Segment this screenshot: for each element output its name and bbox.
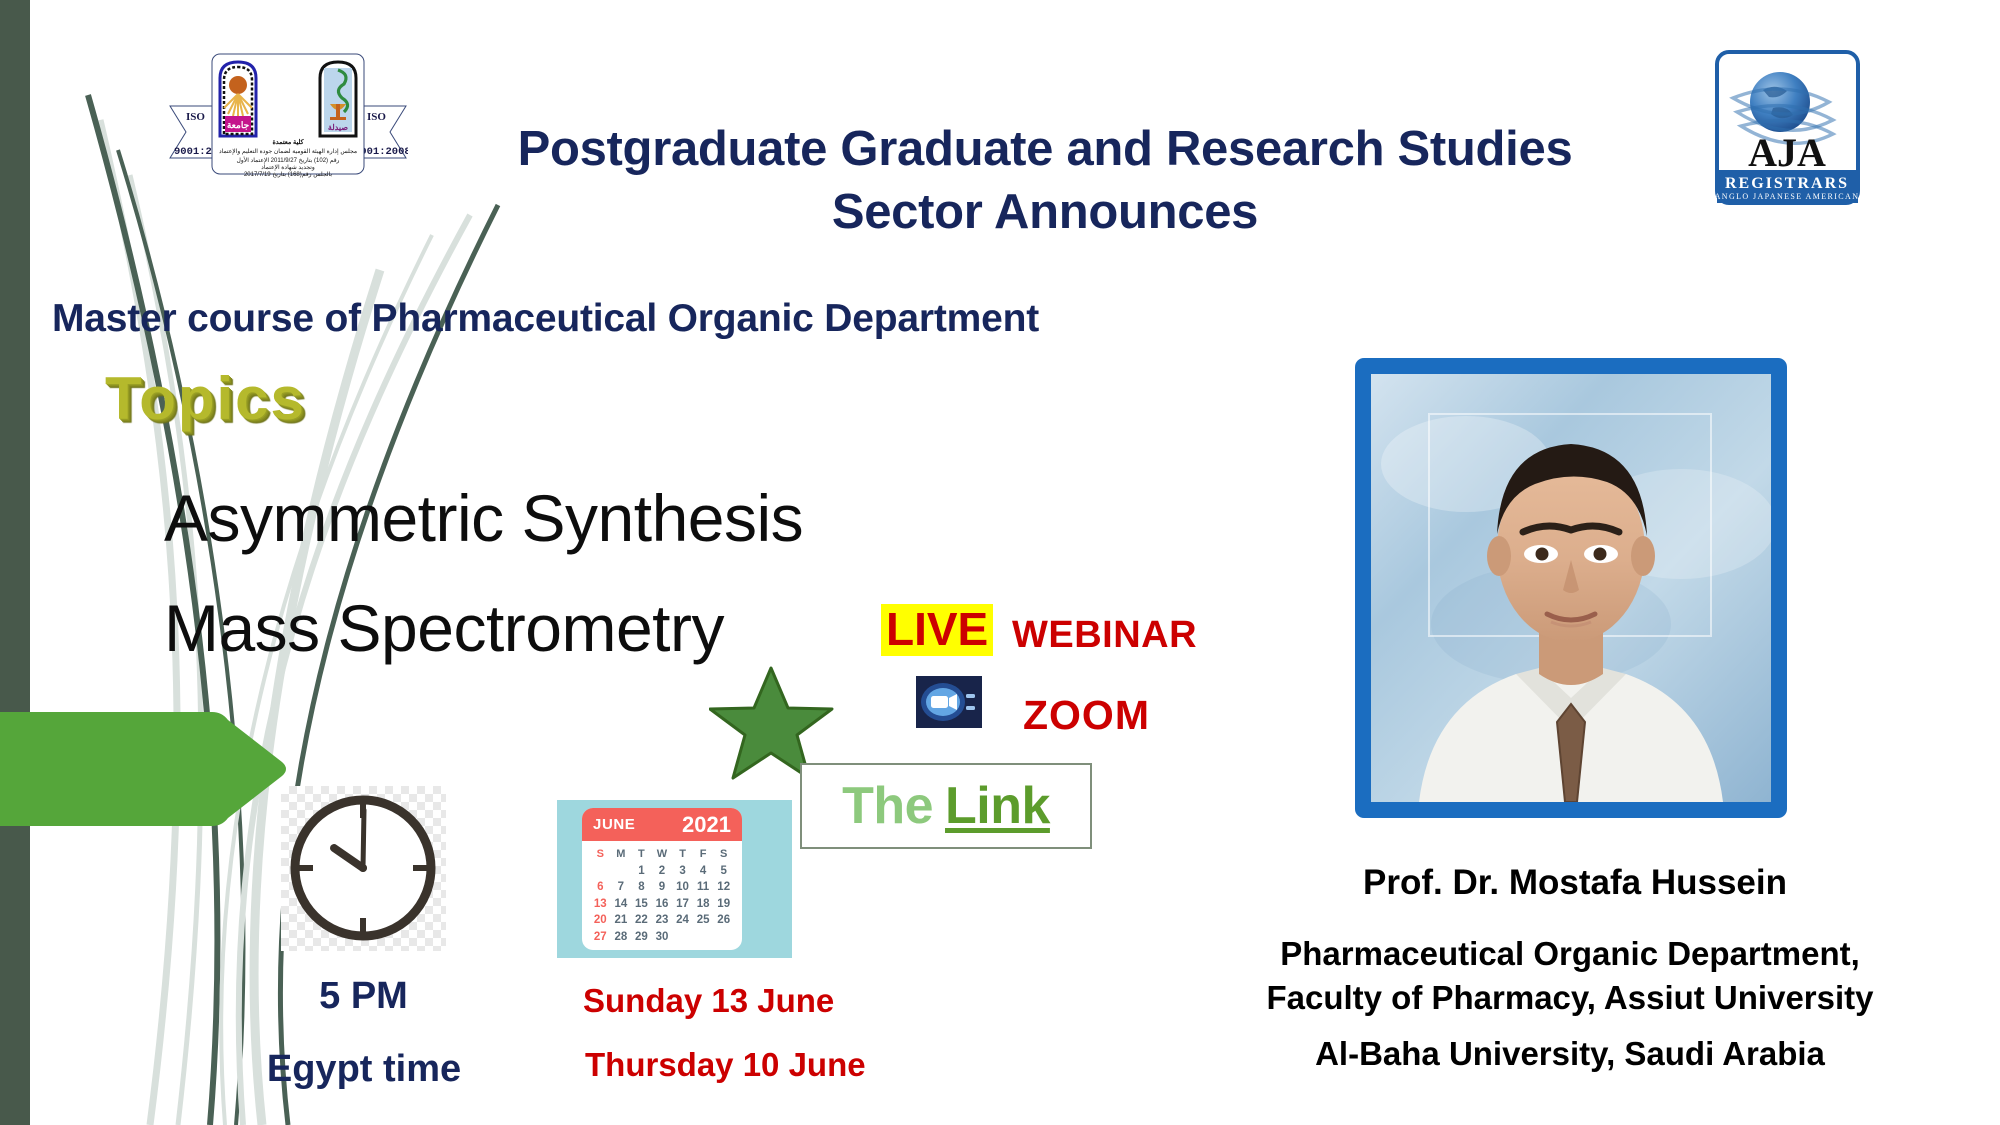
calendar-header: JUNE 2021: [582, 808, 742, 841]
webinar-link-box[interactable]: The Link: [800, 763, 1092, 849]
calendar-day: 11: [693, 879, 714, 896]
speaker-portrait-image: [1371, 374, 1771, 802]
page-title-line-2: Sector Announces: [430, 181, 1660, 244]
webinar-announcement-slide: ISO ISO 9001:2015 9001:2008 جامعة صيدلة …: [0, 0, 2000, 1125]
accreditation-caption-4: وتجديد شهادة الإعتماد: [261, 164, 315, 171]
aja-registrars-label: REGISTRARS: [1725, 175, 1849, 192]
calendar-day: 15: [631, 896, 652, 913]
aja-registrars-logo: AJA REGISTRARS ANGLO JAPANESE AMERICAN: [1715, 50, 1860, 205]
calendar-day: 23: [652, 912, 673, 929]
speaker-affiliation-line-3: Al-Baha University, Saudi Arabia: [1175, 1035, 1965, 1073]
calendar-weekday: S: [713, 846, 734, 863]
calendar-day: 9: [652, 879, 673, 896]
webinar-link[interactable]: Link: [945, 776, 1050, 836]
topic-item-1: Asymmetric Synthesis: [164, 480, 803, 556]
page-title: Postgraduate Graduate and Research Studi…: [430, 118, 1660, 243]
calendar-weekday: W: [652, 846, 673, 863]
topic-item-2: Mass Spectrometry: [164, 590, 724, 666]
calendar-day: 17: [672, 896, 693, 913]
analog-clock-icon: [281, 786, 446, 951]
calendar-day: 13: [590, 896, 611, 913]
zoom-platform-label: ZOOM: [1023, 692, 1150, 739]
calendar-day: 16: [652, 896, 673, 913]
speaker-name: Prof. Dr. Mostafa Hussein: [1225, 863, 1925, 903]
accreditation-caption-5: بالجلس رقم(168) بتاريخ 2017/7/19: [244, 171, 332, 178]
aja-tagline: ANGLO JAPANESE AMERICAN: [1715, 192, 1859, 201]
webinar-label: WEBINAR: [1012, 614, 1197, 657]
calendar-day: [713, 929, 734, 946]
speaker-affiliation: Pharmaceutical Organic Department, Facul…: [1175, 932, 1965, 1019]
calendar-day: 3: [672, 863, 693, 880]
calendar-day-grid: SMTWTFS123456789101112131415161718192021…: [582, 841, 742, 945]
calendar-card: JUNE 2021 SMTWTFS12345678910111213141516…: [582, 808, 742, 950]
svg-text:جامعة: جامعة: [227, 120, 250, 130]
iso-label-right: ISO: [367, 111, 386, 123]
calendar-day: 20: [590, 912, 611, 929]
event-timezone: Egypt time: [245, 1048, 483, 1091]
green-arrow-banner: [0, 704, 290, 834]
left-accent-band: [0, 0, 30, 1125]
link-prefix-label: The: [842, 776, 933, 836]
calendar-day: 1: [631, 863, 652, 880]
aja-wordmark: AJA: [1748, 130, 1826, 175]
clock-face: [281, 786, 446, 951]
calendar-day: 26: [713, 912, 734, 929]
live-badge: LIVE: [881, 604, 993, 656]
calendar-weekday: S: [590, 846, 611, 863]
calendar-day: 7: [611, 879, 632, 896]
course-subtitle: Master course of Pharmaceutical Organic …: [52, 297, 1039, 341]
calendar-day: 28: [611, 929, 632, 946]
svg-text:صيدلة: صيدلة: [328, 123, 348, 132]
calendar-day: 22: [631, 912, 652, 929]
calendar-day: 4: [693, 863, 714, 880]
calendar-day: [672, 929, 693, 946]
calendar-day: 8: [631, 879, 652, 896]
page-title-line-1: Postgraduate Graduate and Research Studi…: [518, 122, 1573, 176]
calendar-day: 12: [713, 879, 734, 896]
calendar-day: 24: [672, 912, 693, 929]
calendar-day: [693, 929, 714, 946]
calendar-year: 2021: [682, 812, 731, 838]
accreditation-caption-2: مجلس إدارة الهيئة القومية لضمان جودة الت…: [219, 148, 357, 155]
event-time: 5 PM: [281, 975, 446, 1018]
event-date-primary: Sunday 13 June: [583, 982, 834, 1020]
calendar-day: 30: [652, 929, 673, 946]
calendar-weekday: T: [631, 846, 652, 863]
calendar-day: [611, 863, 632, 880]
speaker-photo-frame: [1355, 358, 1787, 818]
speaker-portrait: [1371, 374, 1771, 802]
calendar-day: 19: [713, 896, 734, 913]
calendar-day: 21: [611, 912, 632, 929]
calendar-day: 5: [713, 863, 734, 880]
accreditation-caption-1: كلية معتمدة: [272, 139, 303, 146]
event-date-secondary: Thursday 10 June: [585, 1046, 866, 1084]
calendar-day: 18: [693, 896, 714, 913]
calendar-weekday: T: [672, 846, 693, 863]
calendar-day: 29: [631, 929, 652, 946]
iso-label-left: ISO: [186, 111, 205, 123]
calendar-month: JUNE: [593, 816, 635, 833]
assiut-university-accreditation-logo: ISO ISO 9001:2015 9001:2008 جامعة صيدلة …: [168, 48, 408, 208]
topics-heading: Topics: [105, 364, 306, 433]
calendar-weekday: M: [611, 846, 632, 863]
june-2021-calendar-icon: JUNE 2021 SMTWTFS12345678910111213141516…: [557, 800, 792, 958]
calendar-day: 10: [672, 879, 693, 896]
zoom-video-camera-icon[interactable]: [916, 676, 982, 728]
calendar-day: 25: [693, 912, 714, 929]
speaker-affiliation-line-2: Faculty of Pharmacy, Assiut University: [1266, 979, 1873, 1016]
calendar-weekday: F: [693, 846, 714, 863]
calendar-day: 6: [590, 879, 611, 896]
calendar-day: 2: [652, 863, 673, 880]
calendar-day: 14: [611, 896, 632, 913]
calendar-day: 27: [590, 929, 611, 946]
calendar-day: [590, 863, 611, 880]
speaker-affiliation-line-1: Pharmaceutical Organic Department,: [1280, 935, 1860, 972]
